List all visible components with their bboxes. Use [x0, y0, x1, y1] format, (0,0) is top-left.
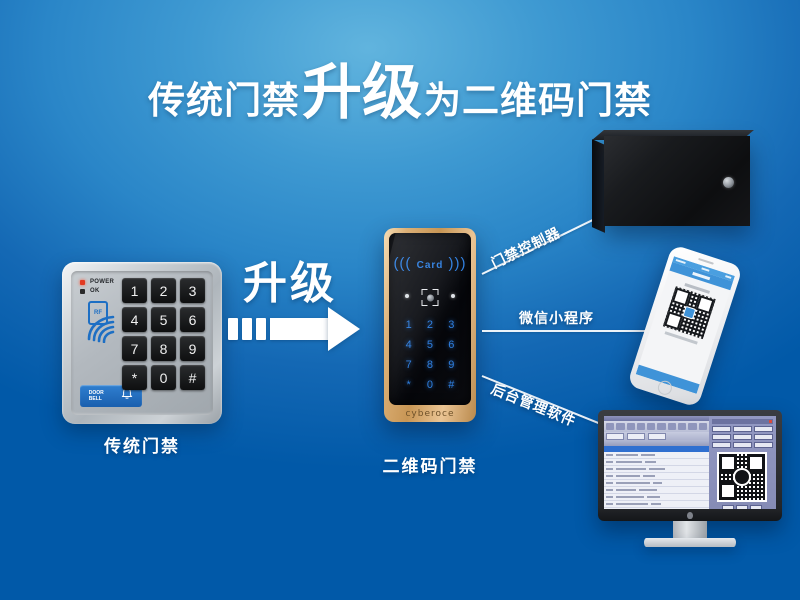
wechat-miniprogram-phone[interactable] — [627, 244, 743, 408]
dialog-button-row[interactable] — [712, 505, 773, 509]
connector-label-controller: 门禁控制器 — [488, 222, 564, 273]
qr-keypad-key[interactable]: 4 — [398, 335, 419, 355]
card-wave-right: ))) — [443, 255, 466, 272]
dialog-field-grid[interactable] — [712, 424, 773, 450]
card-wave-left: ((( — [393, 255, 416, 272]
keypad-key[interactable]: 3 — [180, 278, 205, 303]
status-led-left-icon — [405, 294, 409, 298]
table-row[interactable] — [604, 508, 709, 509]
software-record-list[interactable] — [604, 416, 709, 509]
qr-keypad-key[interactable]: 2 — [419, 315, 440, 335]
qr-keypad-key[interactable]: 5 — [419, 335, 440, 355]
qr-keypad-key[interactable]: 3 — [441, 315, 462, 335]
doorbell-label: DOOR BELL — [89, 390, 104, 402]
table-row[interactable] — [604, 459, 709, 466]
title-emphasis: 升级 — [302, 59, 422, 126]
upgrade-word: 升级 — [243, 247, 337, 311]
qr-code-icon — [717, 452, 767, 502]
qr-reader-glass-panel: ((( Card ))) 1 2 3 4 5 6 7 8 9 * 0 — [389, 233, 471, 405]
connector-label-software: 后台管理软件 — [488, 379, 579, 431]
status-led-right-icon — [451, 294, 455, 298]
power-led-label: POWER — [90, 279, 114, 285]
qr-scanner-icon — [422, 289, 439, 306]
table-row[interactable] — [604, 487, 709, 494]
software-toolbar[interactable] — [604, 421, 709, 432]
keypad-key[interactable]: 1 — [122, 278, 147, 303]
monitor-bezel — [598, 410, 782, 521]
qr-keypad-key[interactable]: # — [441, 375, 462, 395]
keypad-key[interactable]: 0 — [151, 365, 176, 390]
lock-icon[interactable] — [723, 177, 734, 188]
software-filter-bar[interactable] — [604, 432, 709, 440]
qr-keypad-key[interactable]: 8 — [419, 355, 440, 375]
close-icon — [769, 420, 772, 423]
brand-logo: cyberoce — [384, 409, 476, 419]
keypad-key[interactable]: # — [180, 365, 205, 390]
title-part-2: 为二维码门禁 — [424, 80, 652, 121]
qr-code-icon — [663, 286, 716, 339]
qr-keypad-key[interactable]: * — [398, 375, 419, 395]
table-row[interactable] — [604, 473, 709, 480]
table-row[interactable] — [604, 501, 709, 508]
keypad-key[interactable]: 7 — [122, 336, 147, 361]
table-row[interactable] — [604, 494, 709, 501]
poster-canvas: 传统门禁升级为二维码门禁 POWER OK — [0, 0, 800, 600]
keypad-key[interactable]: 6 — [180, 307, 205, 332]
card-text: Card — [417, 260, 444, 271]
table-row[interactable] — [604, 452, 709, 459]
ok-led-icon — [80, 289, 85, 294]
monitor-screen — [604, 416, 776, 509]
qr-keypad-key[interactable]: 0 — [419, 375, 440, 395]
phone-screen — [636, 256, 735, 394]
qr-reader-label: 二维码门禁 — [374, 452, 486, 477]
apple-logo-icon — [687, 512, 693, 519]
table-row[interactable] — [604, 480, 709, 487]
keypad-key[interactable]: 9 — [180, 336, 205, 361]
keypad-key[interactable]: 8 — [151, 336, 176, 361]
keypad-key[interactable]: 4 — [122, 307, 147, 332]
keypad-key[interactable]: 5 — [151, 307, 176, 332]
card-sense-label: ((( Card ))) — [389, 255, 471, 272]
access-controller-box[interactable] — [592, 136, 762, 232]
title-part-1: 传统门禁 — [148, 80, 300, 121]
connector-label-miniprogram: 微信小程序 — [519, 308, 594, 328]
keypad-key[interactable]: * — [122, 365, 147, 390]
qr-keypad-key[interactable]: 7 — [398, 355, 419, 375]
phone-earpiece — [698, 258, 714, 265]
qr-keypad-key[interactable]: 1 — [398, 315, 419, 335]
connector-line-miniprogram — [482, 330, 650, 332]
traditional-access-reader[interactable]: POWER OK RF — [62, 262, 222, 424]
qr-touch-keypad[interactable]: 1 2 3 4 5 6 7 8 9 * 0 # — [398, 315, 462, 395]
power-led-icon — [80, 280, 85, 285]
rf-card-badge: RF — [88, 301, 108, 325]
qr-keypad-key[interactable]: 6 — [441, 335, 462, 355]
traditional-keypad[interactable]: 1 2 3 4 5 6 7 8 9 * 0 # — [122, 278, 205, 390]
page-title: 传统门禁升级为二维码门禁 — [0, 44, 800, 131]
table-row[interactable] — [604, 466, 709, 473]
qr-keypad-key[interactable]: 9 — [441, 355, 462, 375]
controller-box-front — [604, 136, 750, 226]
traditional-reader-label: 传统门禁 — [62, 432, 222, 457]
management-software-monitor[interactable] — [598, 410, 782, 548]
doorbell-line-2: BELL — [89, 396, 102, 402]
ok-led-label: OK — [90, 288, 100, 294]
monitor-stand-base — [644, 538, 736, 547]
qr-access-reader[interactable]: ((( Card ))) 1 2 3 4 5 6 7 8 9 * 0 — [384, 228, 476, 422]
keypad-key[interactable]: 2 — [151, 278, 176, 303]
qr-generate-dialog[interactable] — [709, 416, 776, 509]
rf-card-text: RF — [94, 310, 102, 316]
traditional-reader-panel: POWER OK RF — [71, 271, 213, 415]
